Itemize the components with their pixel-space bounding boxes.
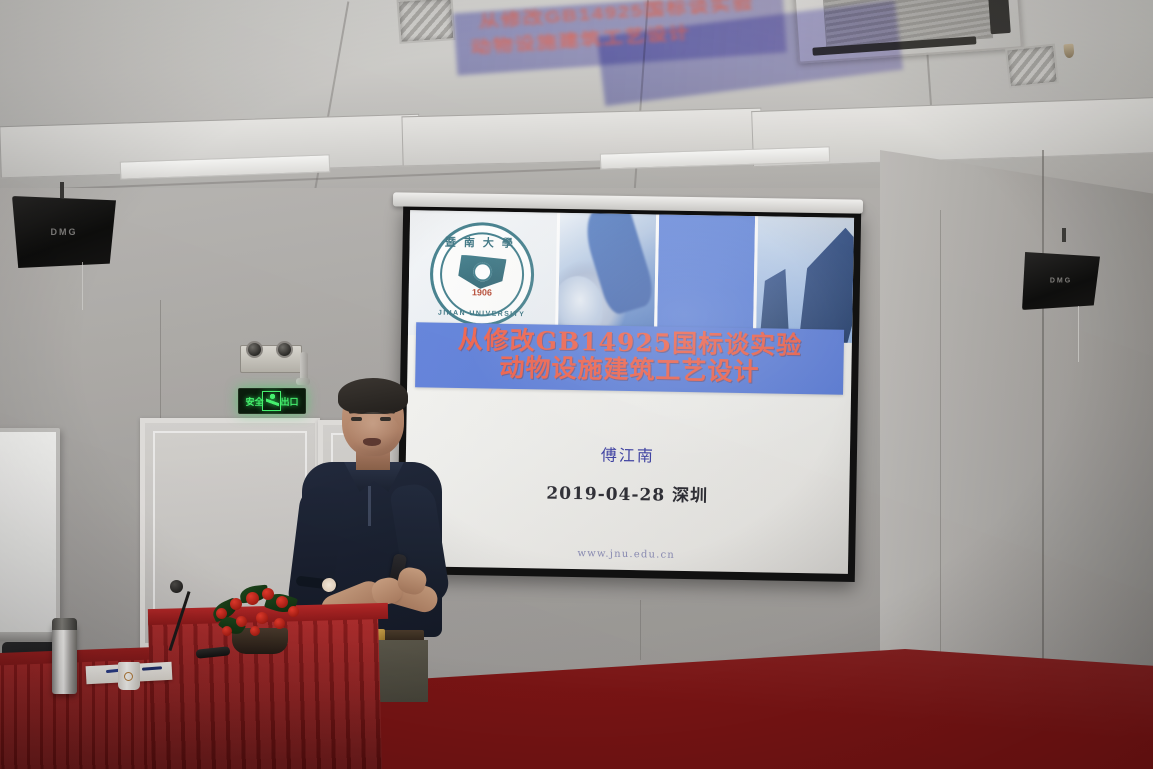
flower-bloom [222, 626, 232, 636]
slide-url: www.jnu.edu.cn [404, 545, 848, 564]
jinan-university-seal-icon: 暨南大學 1906 JINAN UNIVERSITY [429, 221, 535, 327]
slide-presenter-name: 傅江南 [406, 438, 850, 470]
whiteboard [0, 428, 60, 636]
thermos-flask[interactable] [52, 622, 77, 694]
wall-corner [1042, 150, 1044, 710]
wall-speaker-left: DMG [12, 196, 116, 268]
speaker-brand-label: DMG [51, 227, 78, 237]
seal-emblem [458, 255, 507, 290]
flower-bloom [250, 626, 260, 636]
ac-louvre [987, 0, 1011, 34]
emergency-lamp-right [276, 341, 293, 358]
exit-sign-door-icon [262, 391, 281, 411]
air-vent [1005, 43, 1059, 88]
presenter-placket [368, 486, 371, 526]
banner-photo-hands-typing [554, 213, 655, 340]
presenter-mouth [363, 438, 381, 446]
wall-seam [940, 210, 941, 670]
slide-title-band: 从修改GB14925国标谈实验 动物设施建筑工艺设计 [415, 322, 844, 394]
speaker-wire-left [82, 262, 83, 310]
speaker-bracket-right [1062, 228, 1066, 242]
flower-bloom [262, 588, 274, 600]
slide-content: 暨南大學 1906 JINAN UNIVERSITY 从修改GB14925国标谈… [404, 210, 854, 574]
speaker-wire-right [1078, 306, 1079, 362]
seal-chinese-name: 暨南大學 [434, 233, 532, 251]
emergency-lamp-left [246, 341, 263, 358]
exit-sign-text-left: 安全 [245, 395, 263, 408]
flower-bloom [230, 598, 242, 610]
flower-bloom [236, 616, 247, 627]
thermos-cap[interactable] [52, 618, 77, 630]
speaker-brand-label: DMG [1050, 278, 1072, 285]
slide-date-location: 2019-04-28 深圳 [405, 476, 849, 509]
flower-bloom [256, 612, 268, 624]
banner-photo-skyscrapers [753, 216, 854, 343]
projection-screen: 暨南大學 1906 JINAN UNIVERSITY 从修改GB14925国标谈… [397, 204, 861, 582]
cup-logo-icon [124, 672, 133, 681]
presenter-hair [338, 378, 408, 414]
presentation-photo-scene: 从修改GB14925国标谈实验 动物设施建筑工艺设计 DMG DMG 安全 出口 [0, 0, 1153, 769]
air-vent [397, 0, 456, 44]
flower-bloom [288, 606, 299, 617]
flower-bloom [276, 596, 288, 608]
presenter-eye-left [351, 417, 362, 421]
right-wall [880, 150, 1153, 695]
seal-english-name: JINAN UNIVERSITY [433, 309, 531, 318]
wall-seam [640, 600, 641, 660]
speaker-bracket-left [60, 182, 64, 198]
microphone-head[interactable] [170, 580, 183, 593]
presenter-eye-right [380, 417, 391, 421]
banner-photo-blue-panel [654, 214, 755, 341]
seal-year: 1906 [433, 286, 531, 298]
flower-bloom [216, 608, 227, 619]
flower-arrangement [206, 582, 306, 654]
flower-bloom [274, 618, 285, 629]
wall-speaker-right: DMG [1022, 252, 1100, 310]
sprinkler-head [1063, 44, 1074, 59]
slide-logo-cell: 暨南大學 1906 JINAN UNIVERSITY [408, 210, 557, 338]
flower-bloom [246, 592, 259, 605]
